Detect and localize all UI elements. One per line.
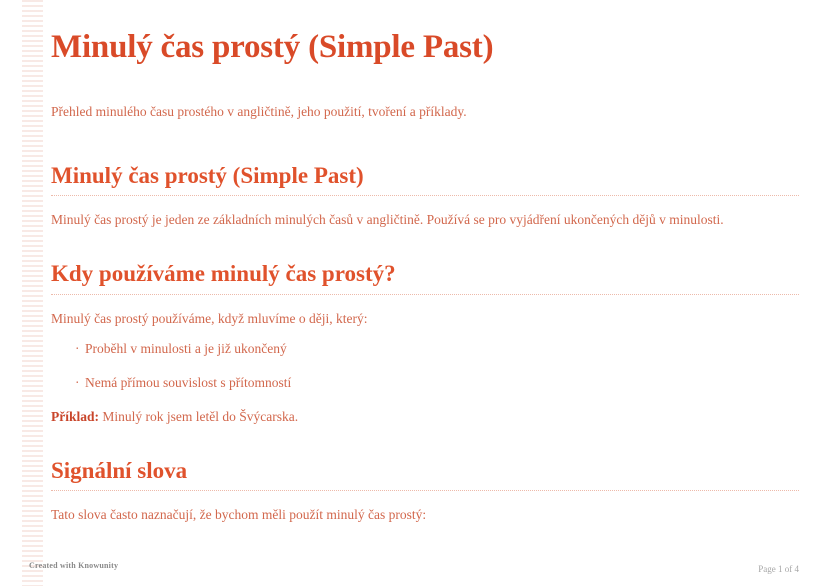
section-paragraph: Tato slova často naznačují, že bychom mě… (51, 505, 799, 525)
document-lead: Přehled minulého času prostého v angličt… (51, 103, 799, 122)
section-heading: Signální slova (51, 457, 799, 492)
left-margin-ruling (22, 0, 43, 586)
list-item: · Proběhl v minulosti a je již ukončený (75, 340, 799, 359)
section-simple-past: Minulý čas prostý (Simple Past) Minulý č… (51, 162, 799, 230)
list-item-label: Proběhl v minulosti a je již ukončený (85, 341, 287, 356)
example-text: Minulý rok jsem letěl do Švýcarska. (99, 409, 298, 424)
page-title: Minulý čas prostý (Simple Past) (51, 28, 799, 67)
document-content: Minulý čas prostý (Simple Past) Přehled … (51, 28, 799, 555)
usage-list: · Proběhl v minulosti a je již ukončený … (51, 340, 799, 393)
section-heading: Minulý čas prostý (Simple Past) (51, 162, 799, 197)
footer-attribution: Created with Knowunity (29, 561, 118, 570)
bullet-icon: · (75, 374, 80, 393)
page-footer: Created with Knowunity Page 1 of 4 (0, 542, 828, 586)
example-label: Příklad: (51, 409, 99, 424)
section-paragraph: Minulý čas prostý je jeden ze základních… (51, 210, 799, 230)
section-signal-words: Signální slova Tato slova často naznačuj… (51, 457, 799, 525)
document-page: Minulý čas prostý (Simple Past) Přehled … (0, 0, 828, 586)
footer-page-number: Page 1 of 4 (758, 564, 799, 574)
section-paragraph: Minulý čas prostý používáme, když mluvím… (51, 309, 799, 329)
list-item-label: Nemá přímou souvislost s přítomností (85, 375, 291, 390)
section-heading: Kdy používáme minulý čas prostý? (51, 260, 799, 295)
bullet-icon: · (75, 340, 80, 359)
example-line: Příklad: Minulý rok jsem letěl do Švýcar… (51, 408, 799, 427)
section-when-to-use: Kdy používáme minulý čas prostý? Minulý … (51, 260, 799, 427)
list-item: · Nemá přímou souvislost s přítomností (75, 374, 799, 393)
